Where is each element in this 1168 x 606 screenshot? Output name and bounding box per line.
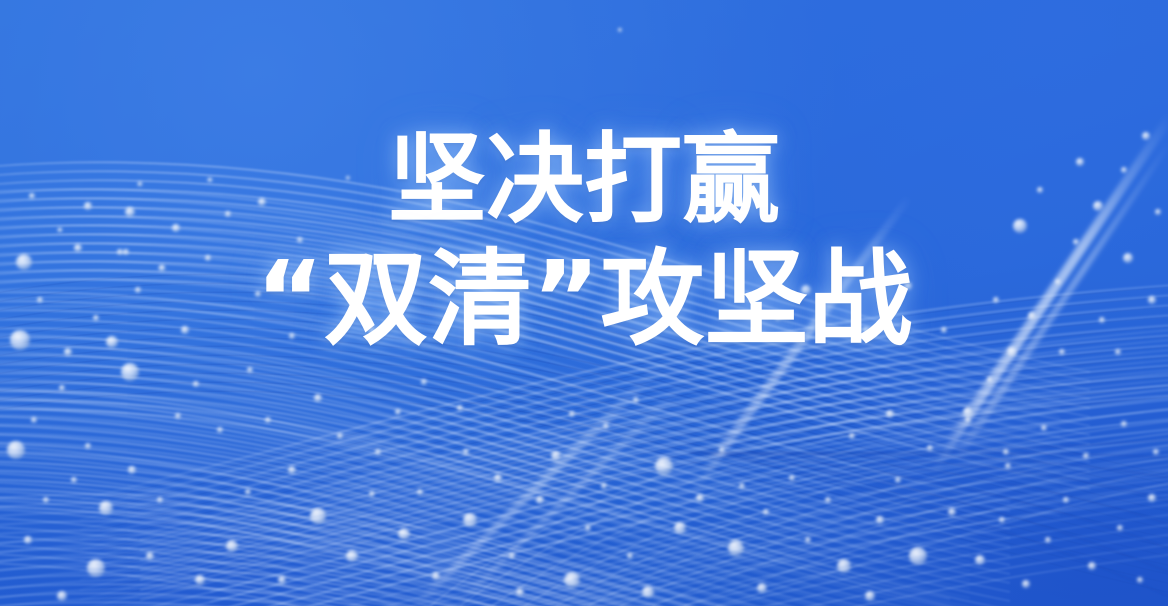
background-artwork bbox=[0, 0, 1168, 606]
poster-banner: 坚决打赢 “双清”攻坚战 坚决打赢“双清”攻坚战 bbox=[0, 0, 1168, 606]
